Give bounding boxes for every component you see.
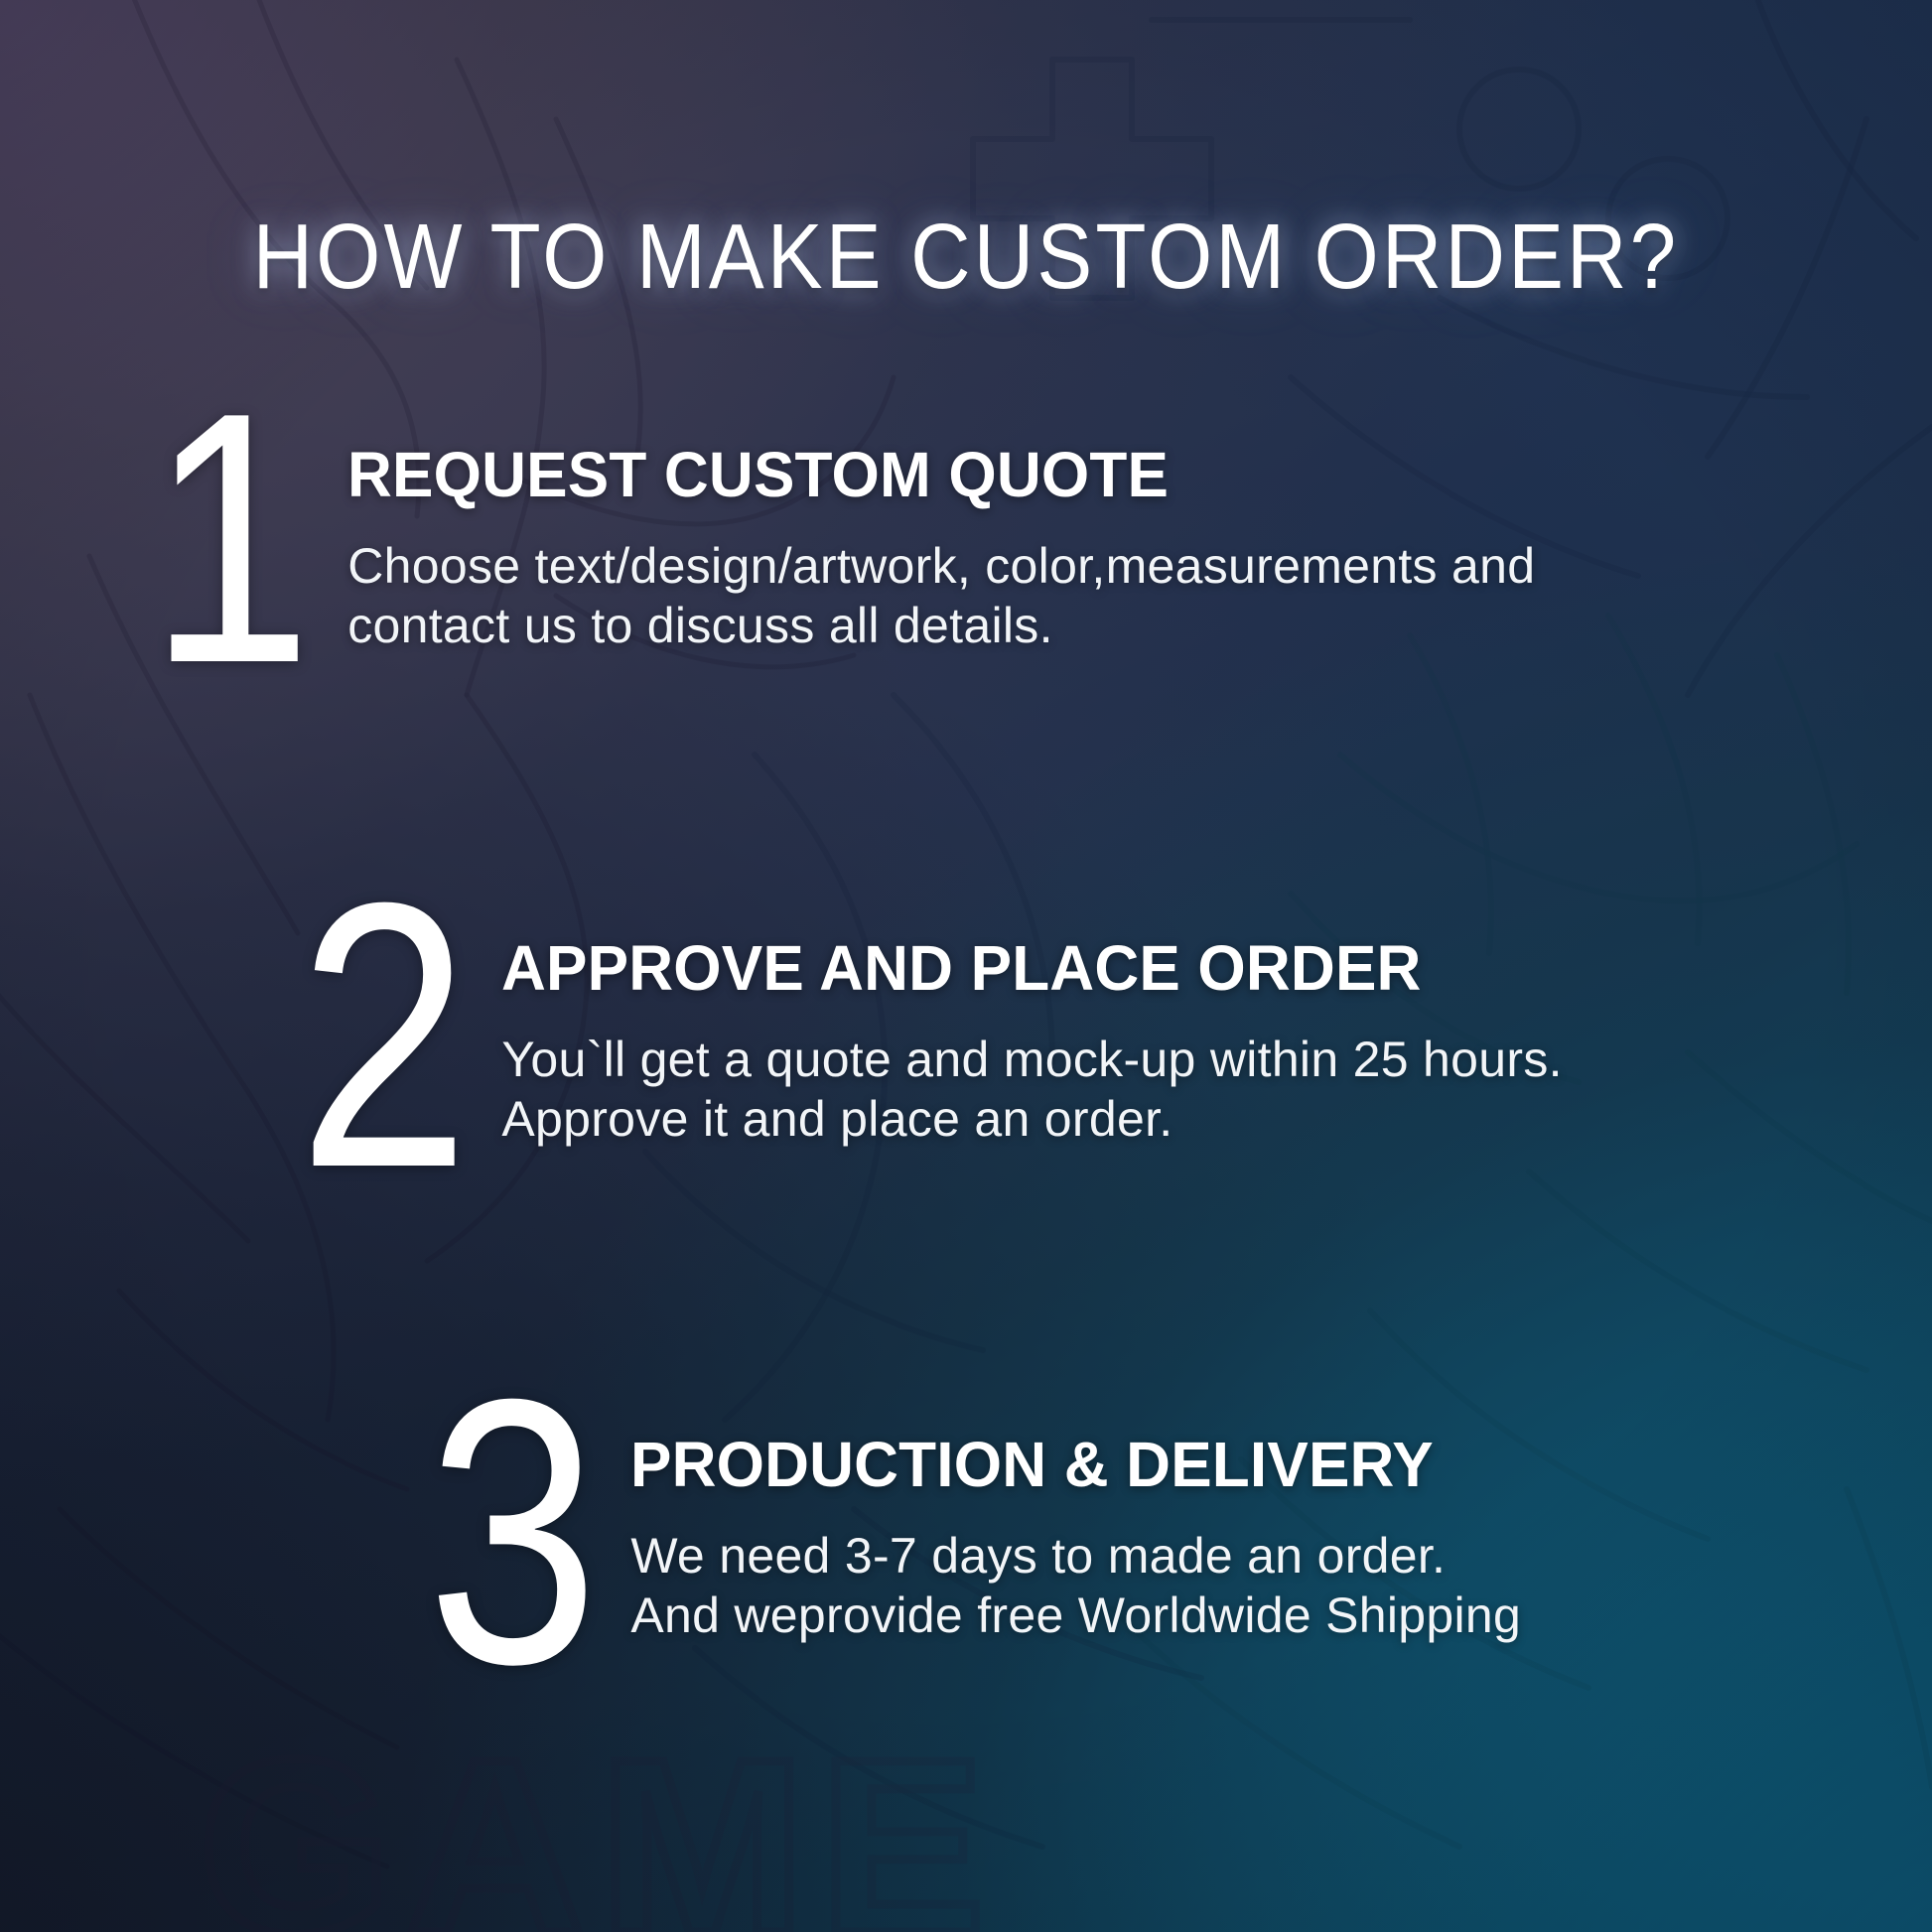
step-item-2: 2 APPROVE AND PLACE ORDER You`ll get a q… <box>298 898 1588 1182</box>
step-description-2: You`ll get a quote and mock-up within 25… <box>501 1030 1588 1149</box>
step-heading-1: REQUEST CUSTOM QUOTE <box>347 443 1499 506</box>
step-item-3: 3 PRODUCTION & DELIVERY We need 3-7 days… <box>427 1395 1648 1679</box>
step-heading-2: APPROVE AND PLACE ORDER <box>501 936 1556 1000</box>
step-body-3: PRODUCTION & DELIVERY We need 3-7 days t… <box>630 1395 1648 1645</box>
step-body-2: APPROVE AND PLACE ORDER You`ll get a quo… <box>501 898 1588 1149</box>
step-description-3-line-1: We need 3-7 days to made an order. <box>630 1526 1648 1586</box>
step-number-2: 2 <box>298 889 465 1182</box>
page-title: HOW TO MAKE CUSTOM ORDER? <box>96 210 1835 303</box>
step-description-1-line-1: Choose text/design/artwork, color,measur… <box>347 536 1535 596</box>
step-description-1: Choose text/design/artwork, color,measur… <box>347 536 1535 655</box>
step-heading-3: PRODUCTION & DELIVERY <box>630 1433 1617 1496</box>
step-body-1: REQUEST CUSTOM QUOTE Choose text/design/… <box>347 409 1535 655</box>
step-description-2-line-1: You`ll get a quote and mock-up within 25… <box>501 1030 1588 1089</box>
step-description-1-line-2: contact us to discuss all details. <box>347 596 1535 655</box>
infographic-poster: GAME HOW TO MAKE CUSTOM ORDER? 1 REQUEST… <box>0 0 1932 1932</box>
step-item-1: 1 REQUEST CUSTOM QUOTE Choose text/desig… <box>149 409 1469 678</box>
poster-content: HOW TO MAKE CUSTOM ORDER? 1 REQUEST CUST… <box>0 0 1932 1932</box>
step-description-3: We need 3-7 days to made an order. And w… <box>630 1526 1648 1645</box>
step-number-1: 1 <box>149 399 307 678</box>
step-description-3-line-2: And weprovide free Worldwide Shipping <box>630 1586 1648 1645</box>
step-number-3: 3 <box>427 1385 594 1679</box>
step-description-2-line-2: Approve it and place an order. <box>501 1089 1588 1149</box>
